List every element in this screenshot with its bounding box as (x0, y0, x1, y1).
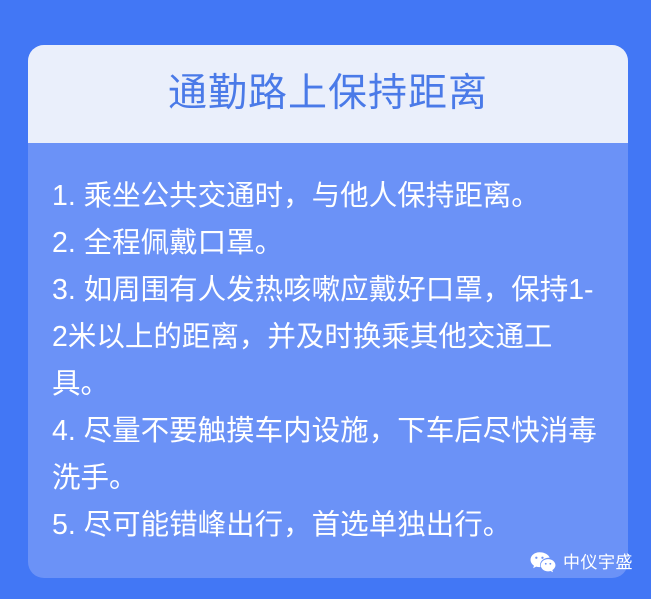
card-body: 1. 乘坐公共交通时，与他人保持距离。 2. 全程佩戴口罩。 3. 如周围有人发… (28, 143, 628, 549)
list-item: 2. 全程佩戴口罩。 (52, 220, 606, 267)
rule-list: 1. 乘坐公共交通时，与他人保持距离。 2. 全程佩戴口罩。 3. 如周围有人发… (52, 173, 606, 549)
wechat-icon (530, 551, 556, 573)
watermark: 中仪宇盛 (530, 551, 633, 573)
list-item: 5. 尽可能错峰出行，首选单独出行。 (52, 502, 606, 549)
page-title: 通勤路上保持距离 (168, 73, 488, 116)
card-header: 通勤路上保持距离 (28, 45, 628, 143)
list-item: 3. 如周围有人发热咳嗽应戴好口罩，保持1-2米以上的距离，并及时换乘其他交通工… (52, 267, 606, 408)
list-item: 4. 尽量不要触摸车内设施，下车后尽快消毒洗手。 (52, 408, 606, 502)
list-item: 1. 乘坐公共交通时，与他人保持距离。 (52, 173, 606, 220)
info-card: 通勤路上保持距离 1. 乘坐公共交通时，与他人保持距离。 2. 全程佩戴口罩。 … (28, 45, 628, 578)
poster-canvas: 通勤路上保持距离 1. 乘坐公共交通时，与他人保持距离。 2. 全程佩戴口罩。 … (0, 0, 651, 599)
watermark-label: 中仪宇盛 (563, 554, 633, 571)
